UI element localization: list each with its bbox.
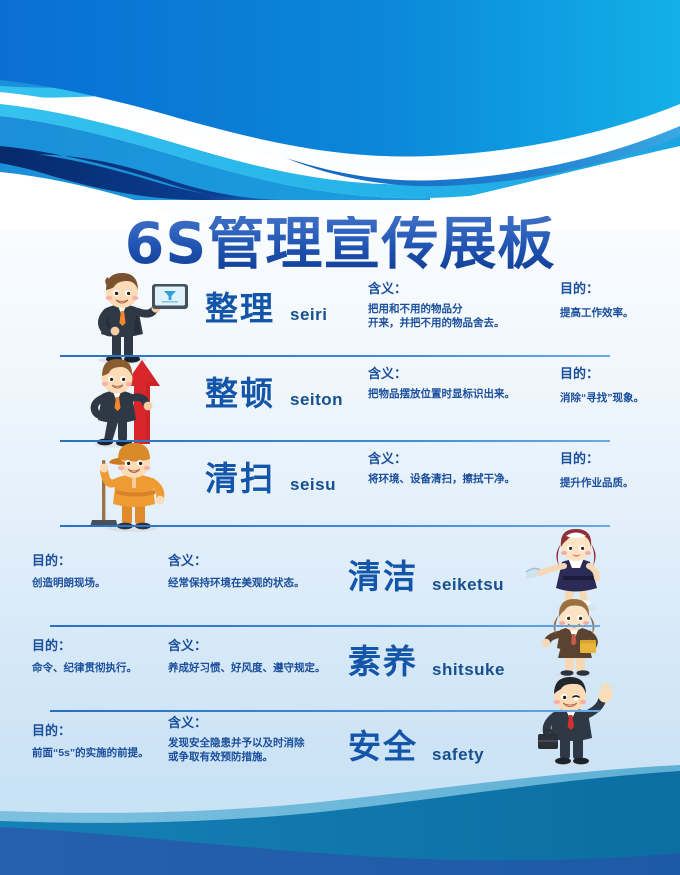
item-romaji: safety [432, 746, 484, 763]
item-romaji: shitsuke [432, 661, 505, 678]
row-divider [60, 525, 610, 527]
meaning-label: 含义： [168, 554, 207, 567]
purpose-text: 创造明朗现场。 [32, 576, 172, 590]
item-row-seisu: 清扫 seisu 含义： 将环境、设备清扫，擦拭干净。 目的： 提升作业品质。 [0, 442, 680, 527]
item-cn-word: 清洁 [348, 560, 418, 593]
purpose-label: 目的： [32, 554, 71, 567]
purpose-text: 前面“5s”的实施的前提。 [32, 746, 172, 760]
meaning-text: 经常保持环境在美观的状态。 [168, 576, 368, 590]
item-row-seiton: 整顿 seiton 含义： 把物品摆放位置时显标识出来。 目的： 消除“寻找”现… [0, 357, 680, 442]
meaning-text: 养成好习惯、好风度、遵守规定。 [168, 661, 368, 675]
meaning-label: 含义： [168, 716, 207, 729]
item-romaji: seiton [290, 391, 343, 408]
page-title: 6S管理宣传展板 [125, 216, 556, 273]
item-cn-word: 整顿 [205, 377, 275, 410]
item-row-shitsuke: 目的： 命令、纪律贯彻执行。 含义： 养成好习惯、好风度、遵守规定。 素养 sh… [0, 627, 680, 712]
meaning-text: 把物品摆放位置时显标识出来。 [368, 387, 553, 401]
meaning-text: 发现安全隐患并予以及时消除 或争取有效预防措施。 [168, 736, 368, 764]
meaning-text: 把用和不用的物品分 开来，并把不用的物品舍去。 [368, 302, 553, 330]
purpose-text: 提升作业品质。 [560, 476, 675, 490]
meaning-label: 含义： [368, 367, 407, 380]
header-wave-graphic [0, 0, 680, 200]
item-row-seiri: 整理 seiri 含义： 把用和不用的物品分 开来，并把不用的物品舍去。 目的：… [0, 272, 680, 357]
purpose-text: 命令、纪律贯彻执行。 [32, 661, 172, 675]
meaning-label: 含义： [368, 282, 407, 295]
meaning-label: 含义： [168, 639, 207, 652]
item-cn-word: 素养 [348, 645, 418, 678]
poster-canvas: 6S管理宣传展板 [0, 0, 680, 875]
meaning-label: 含义： [368, 452, 407, 465]
item-cn-word: 整理 [205, 292, 275, 325]
item-romaji: seisu [290, 476, 336, 493]
purpose-label: 目的： [560, 452, 599, 465]
item-row-seiketsu: 目的： 创造明朗现场。 含义： 经常保持环境在美观的状态。 清洁 seikets… [0, 542, 680, 627]
purpose-text: 提高工作效率。 [560, 306, 675, 320]
purpose-label: 目的： [560, 282, 599, 295]
item-romaji: seiketsu [432, 576, 504, 593]
item-row-safety: 目的： 前面“5s”的实施的前提。 含义： 发现安全隐患并予以及时消除 或争取有… [0, 712, 680, 797]
item-romaji: seiri [290, 306, 327, 323]
item-cn-word: 安全 [348, 730, 418, 763]
meaning-text: 将环境、设备清扫，擦拭干净。 [368, 472, 553, 486]
purpose-label: 目的： [32, 639, 71, 652]
purpose-label: 目的： [32, 724, 71, 737]
purpose-label: 目的： [560, 367, 599, 380]
item-cn-word: 清扫 [205, 462, 275, 495]
purpose-text: 消除“寻找”现象。 [560, 391, 675, 405]
